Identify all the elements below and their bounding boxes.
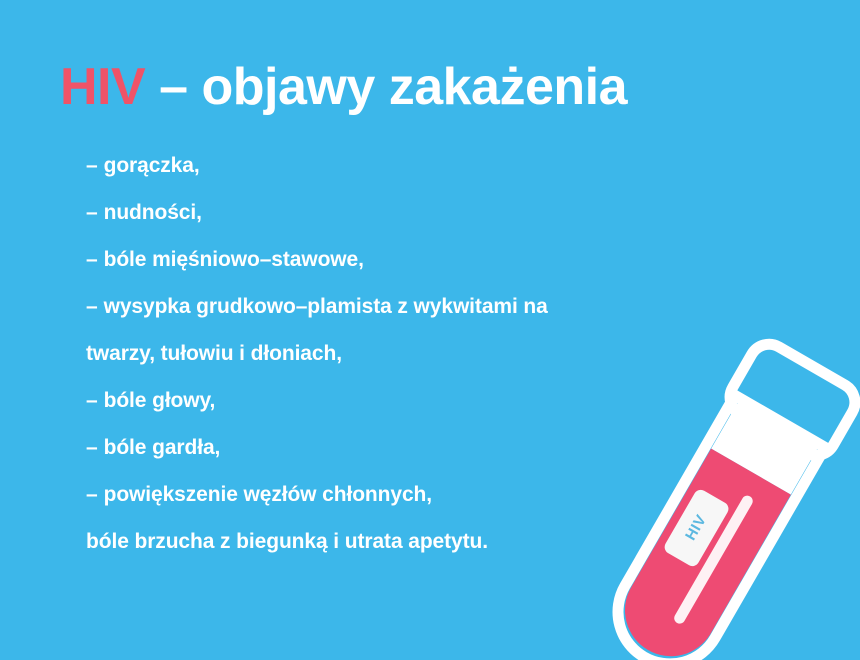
list-item-label: bóle gardła,	[104, 436, 221, 459]
list-item-continuation: twarzy, tułowiu i dłoniach,	[86, 330, 686, 377]
list-item-dash: –	[86, 142, 98, 189]
list-item: –wysypka grudkowo–plamista z wykwitami n…	[86, 283, 686, 330]
list-item-dash: –	[86, 424, 98, 471]
list-item-label: powiększenie węzłów chłonnych,	[104, 483, 432, 506]
list-item-dash: –	[86, 236, 98, 283]
symptom-list: –gorączka, –nudności, –bóle mięśniowo–st…	[86, 142, 686, 565]
tube-label-text: HIV	[682, 512, 710, 543]
list-item-dash: –	[86, 471, 98, 518]
list-item-label: nudności,	[104, 201, 202, 224]
list-item: –bóle głowy,	[86, 377, 686, 424]
list-item-label: wysypka grudkowo–plamista z wykwitami na	[104, 295, 548, 318]
list-item-label: bóle mięśniowo–stawowe,	[104, 248, 364, 271]
list-item: –gorączka,	[86, 142, 686, 189]
tube-neck-fill	[711, 398, 820, 494]
list-item: –bóle mięśniowo–stawowe,	[86, 236, 686, 283]
list-item: –powiększenie węzłów chłonnych,	[86, 471, 686, 518]
poster-canvas: HIV – objawy zakażenia –gorączka, –nudno…	[0, 0, 860, 660]
list-item-label: bóle głowy,	[104, 389, 216, 412]
list-item-continuation: bóle brzucha z biegunką i utrata apetytu…	[86, 518, 686, 565]
list-item-dash: –	[86, 377, 98, 424]
title-rest: – objawy zakażenia	[145, 58, 627, 116]
list-item-label: twarzy, tułowiu i dłoniach,	[86, 342, 342, 365]
list-item-dash: –	[86, 189, 98, 236]
tube-cap-outline	[723, 337, 860, 463]
list-item: –bóle gardła,	[86, 424, 686, 471]
list-item: –nudności,	[86, 189, 686, 236]
list-item-label: gorączka,	[104, 154, 200, 177]
title-accent-hiv: HIV	[60, 58, 145, 116]
list-item-dash: –	[86, 283, 98, 330]
page-title: HIV – objawy zakażenia	[60, 56, 627, 118]
list-item-label: bóle brzucha z biegunką i utrata apetytu…	[86, 530, 488, 553]
